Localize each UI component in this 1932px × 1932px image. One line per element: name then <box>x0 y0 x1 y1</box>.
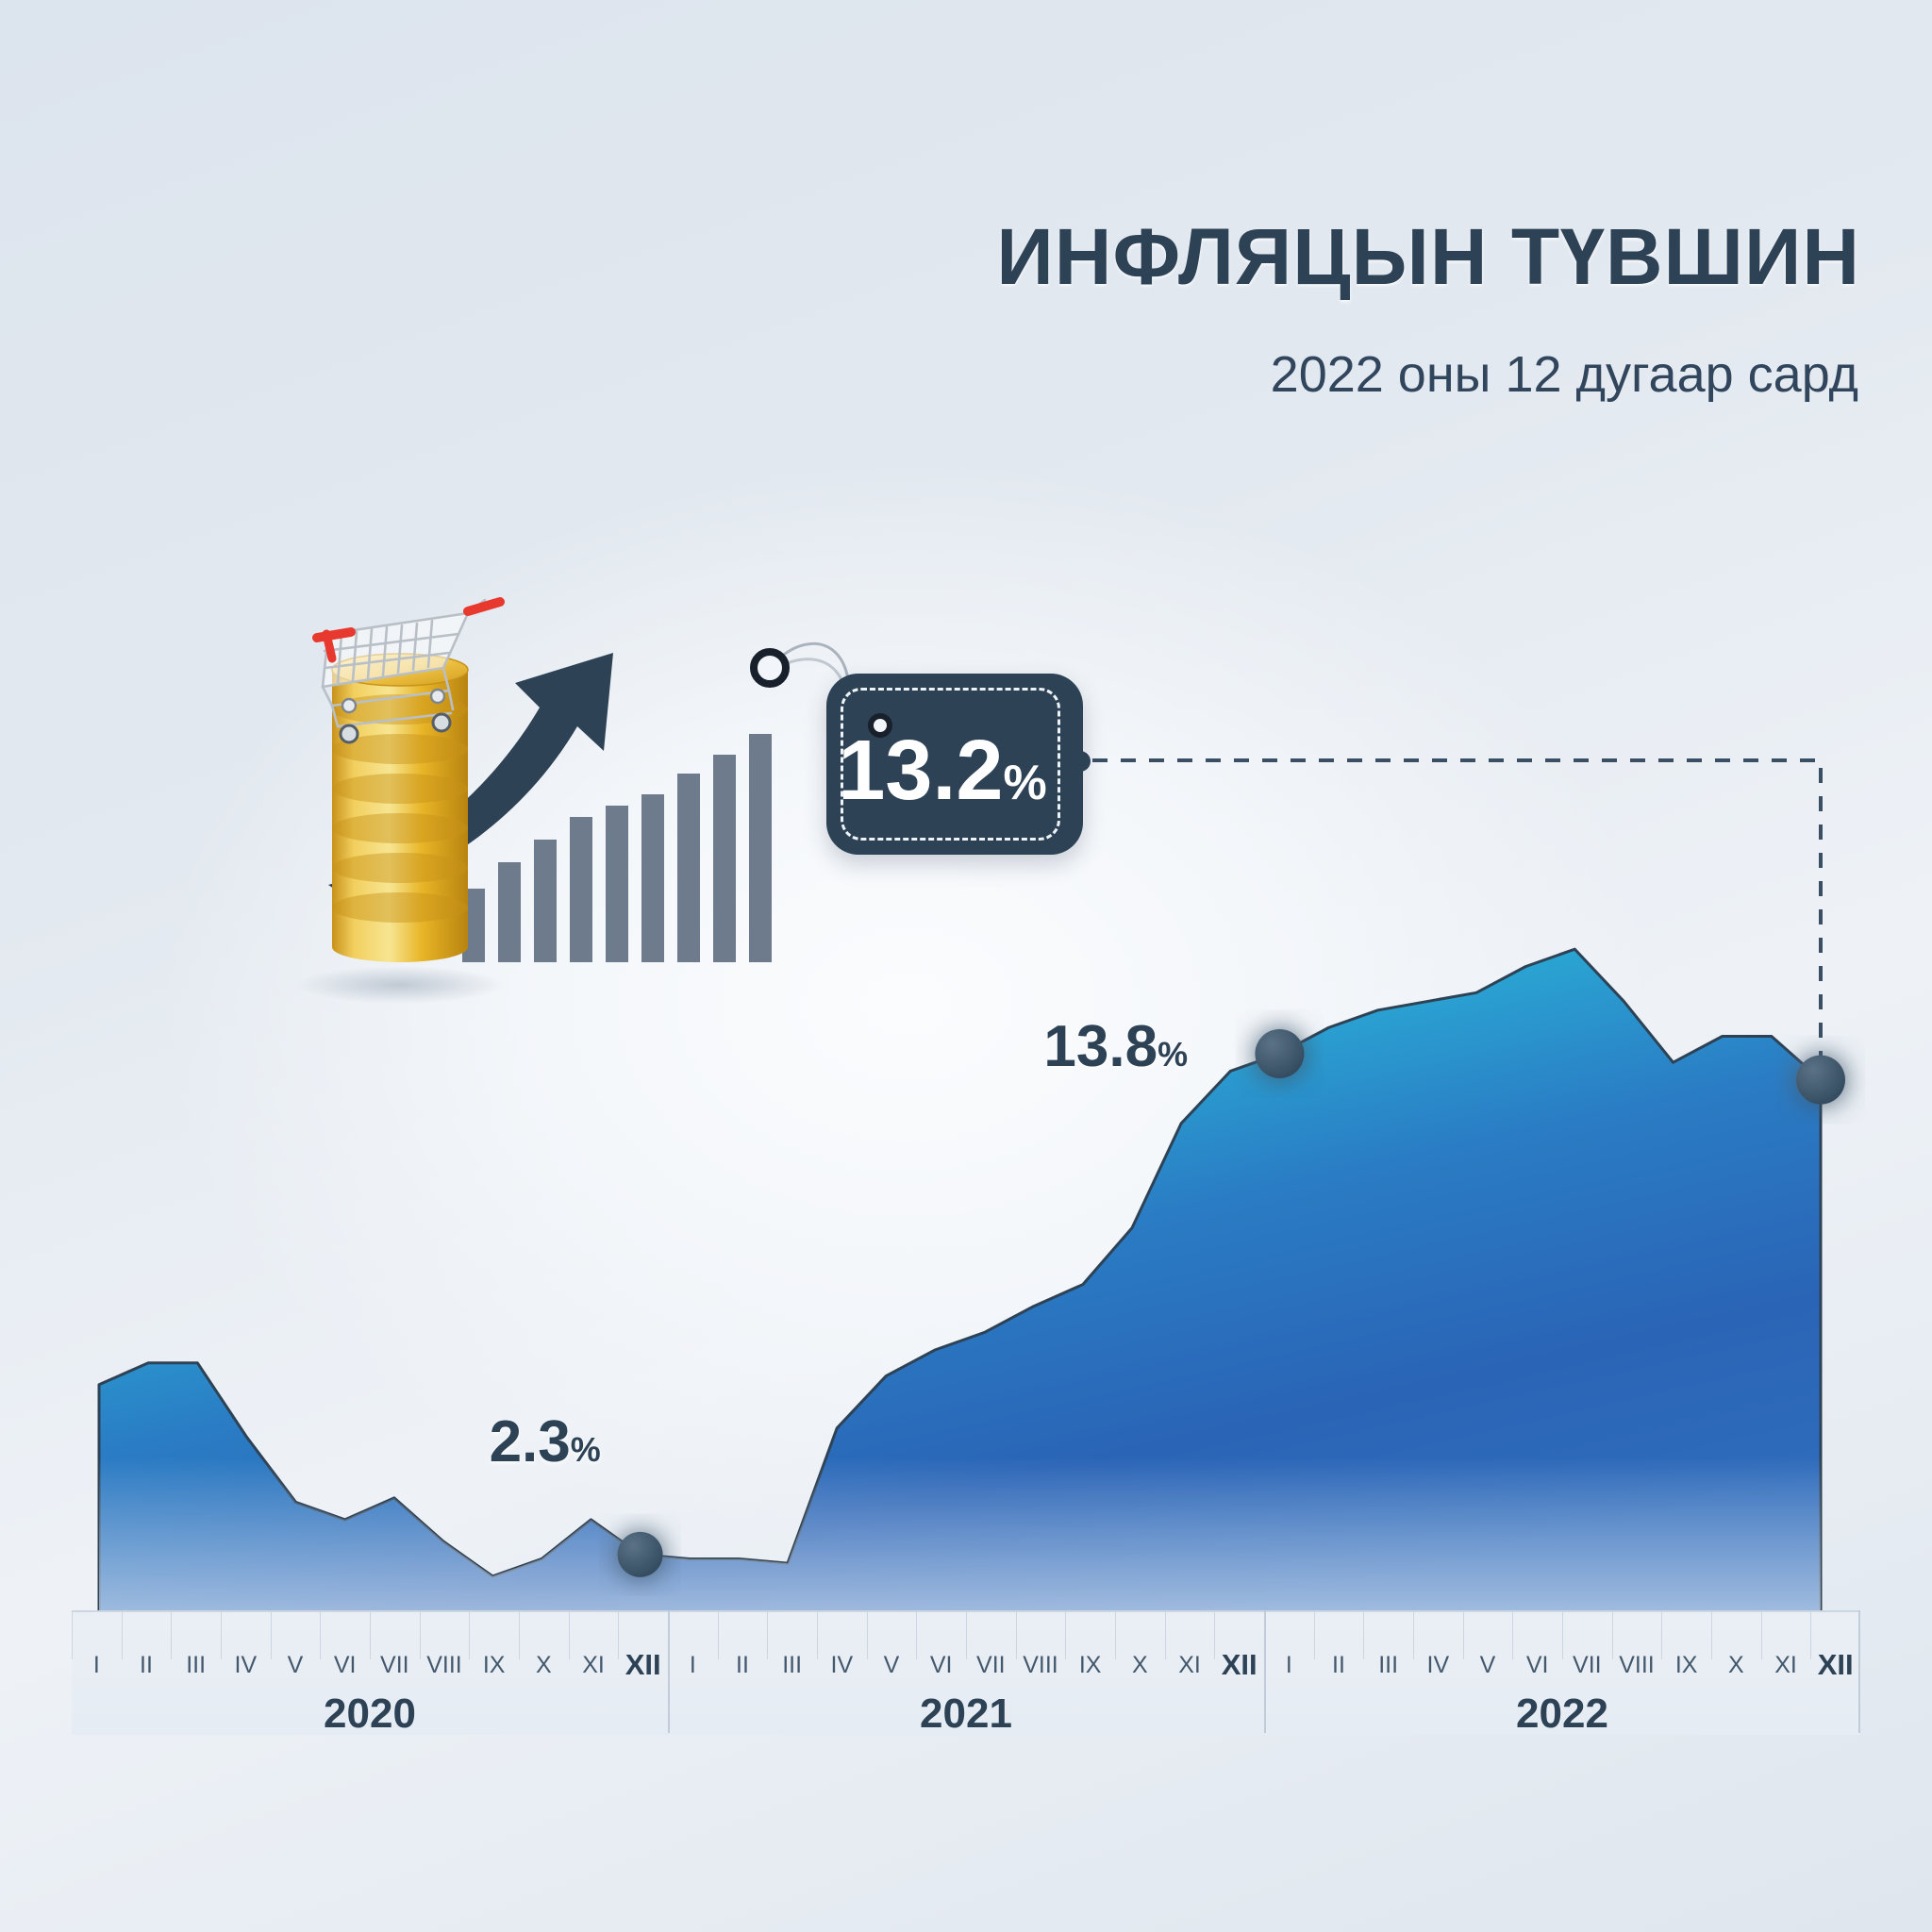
data-label-low-percent: % <box>571 1430 601 1469</box>
axis-tick <box>916 1610 917 1659</box>
axis-tick <box>469 1610 470 1659</box>
axis-month-label: X <box>1132 1654 1148 1677</box>
axis-month-label: I <box>93 1654 100 1677</box>
data-label-peak-percent: % <box>1158 1035 1188 1074</box>
axis-month-label: VIII <box>1619 1654 1655 1677</box>
axis-month-label: I <box>690 1654 696 1677</box>
axis-tick <box>1413 1610 1414 1659</box>
axis-tick <box>1363 1610 1364 1659</box>
axis-month-label: VIII <box>426 1654 462 1677</box>
axis-tick <box>1661 1610 1662 1659</box>
axis-month-label: VI <box>930 1654 953 1677</box>
axis-tick <box>271 1610 272 1659</box>
data-label-peak-value: 13.8 <box>1043 1014 1158 1079</box>
axis-month-label: III <box>782 1654 802 1677</box>
axis-month-label: II <box>140 1654 153 1677</box>
data-label-peak: 13.8% <box>1043 1018 1188 1076</box>
axis-year-label: 2020 <box>324 1693 416 1735</box>
axis-month-label: XI <box>582 1654 605 1677</box>
axis-month-label: VI <box>334 1654 357 1677</box>
axis-end-separator <box>1858 1610 1860 1733</box>
axis-tick <box>420 1610 421 1659</box>
axis-tick <box>1016 1610 1017 1659</box>
axis-tick <box>569 1610 570 1659</box>
axis-tick <box>1711 1610 1712 1659</box>
axis-month-label: VII <box>380 1654 409 1677</box>
axis-tick <box>370 1610 371 1659</box>
axis-tick <box>718 1610 719 1659</box>
axis-month-label: X <box>536 1654 552 1677</box>
axis-tick <box>1512 1610 1513 1659</box>
infographic-canvas: ИНФЛЯЦЫН ТҮВШИН 2022 оны 12 дугаар сард <box>0 0 1932 1932</box>
time-axis: IIIIIIIVVVIVIIVIIIIXXXIXII2020IIIIIIIVVV… <box>72 1610 1860 1733</box>
axis-tick <box>867 1610 868 1659</box>
axis-month-label: XII <box>1818 1650 1854 1679</box>
axis-year-label: 2022 <box>1516 1693 1608 1735</box>
axis-month-label: V <box>884 1654 900 1677</box>
axis-month-label: XI <box>1774 1654 1797 1677</box>
headline-inflation-value: 13.2% <box>826 728 1058 813</box>
axis-tick <box>1612 1610 1613 1659</box>
price-tag-callout[interactable]: 13.2% <box>826 674 1083 855</box>
data-label-low-value: 2.3 <box>490 1409 571 1474</box>
axis-tick <box>767 1610 768 1659</box>
axis-tick <box>320 1610 321 1659</box>
axis-month-label: II <box>736 1654 749 1677</box>
axis-month-label: VI <box>1526 1654 1549 1677</box>
axis-month-label: I <box>1286 1654 1292 1677</box>
axis-month-label: IX <box>1675 1654 1698 1677</box>
axis-month-label: IX <box>483 1654 506 1677</box>
axis-tick <box>966 1610 967 1659</box>
axis-tick <box>171 1610 172 1659</box>
axis-tick <box>1115 1610 1116 1659</box>
data-label-low: 2.3% <box>490 1413 601 1472</box>
axis-month-label: IX <box>1079 1654 1102 1677</box>
price-tag-connector-nub <box>1070 751 1091 772</box>
axis-tick <box>1463 1610 1464 1659</box>
axis-tick <box>1214 1610 1215 1659</box>
axis-tick <box>122 1610 123 1659</box>
axis-tick <box>221 1610 222 1659</box>
axis-month-label: VIII <box>1023 1654 1058 1677</box>
axis-month-label: XI <box>1178 1654 1201 1677</box>
axis-tick <box>1562 1610 1563 1659</box>
axis-month-label: IV <box>235 1654 258 1677</box>
axis-tick <box>1761 1610 1762 1659</box>
axis-tick <box>72 1610 73 1659</box>
axis-month-label: XII <box>1222 1650 1257 1679</box>
axis-month-label: IV <box>1427 1654 1450 1677</box>
area-series <box>99 949 1821 1655</box>
axis-month-label: X <box>1728 1654 1744 1677</box>
axis-month-label: VII <box>1573 1654 1602 1677</box>
axis-year-separator <box>668 1610 670 1733</box>
axis-tick <box>1314 1610 1315 1659</box>
axis-month-label: IV <box>831 1654 854 1677</box>
headline-value-percent: % <box>1003 756 1046 810</box>
axis-tick <box>1165 1610 1166 1659</box>
axis-month-label: V <box>288 1654 304 1677</box>
axis-month-label: III <box>1378 1654 1398 1677</box>
axis-tick <box>1810 1610 1811 1659</box>
headline-value-number: 13.2 <box>838 724 1003 818</box>
coin-stack-icon <box>283 585 679 1009</box>
axis-year-label: 2021 <box>920 1693 1012 1735</box>
axis-tick <box>618 1610 619 1659</box>
axis-month-label: II <box>1332 1654 1345 1677</box>
axis-month-label: XII <box>625 1650 661 1679</box>
axis-tick <box>817 1610 818 1659</box>
axis-tick <box>519 1610 520 1659</box>
axis-year-separator <box>1264 1610 1266 1733</box>
price-tag-hole-icon <box>868 713 892 738</box>
axis-month-label: VII <box>976 1654 1006 1677</box>
axis-month-label: V <box>1480 1654 1496 1677</box>
axis-tick <box>1065 1610 1066 1659</box>
axis-month-label: III <box>186 1654 206 1677</box>
